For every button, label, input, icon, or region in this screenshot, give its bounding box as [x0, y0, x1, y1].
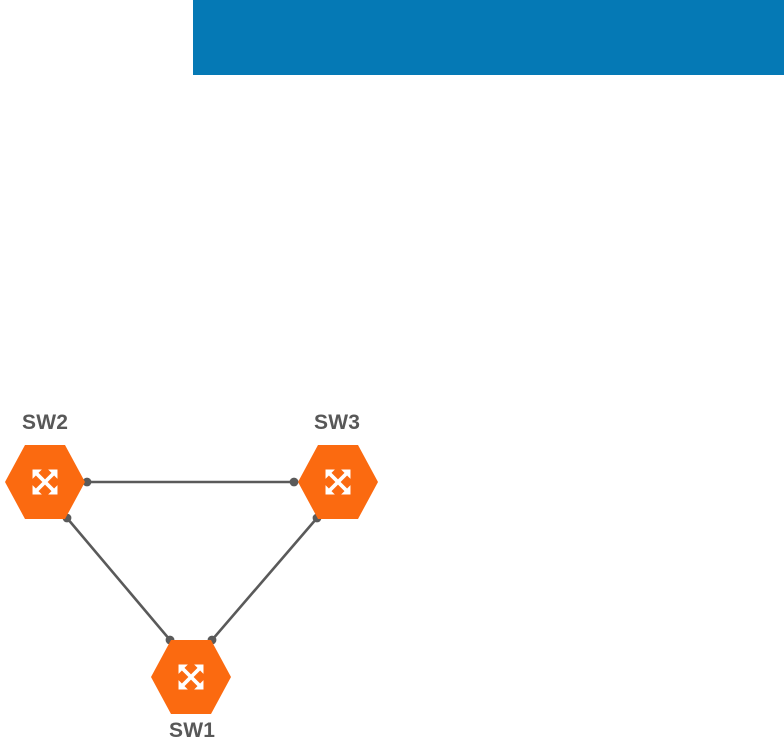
topology-canvas[interactable] — [0, 400, 400, 744]
link-endpoint-group — [63, 478, 322, 645]
topology-svg — [0, 400, 400, 744]
link-sw3-sw1[interactable] — [212, 518, 317, 640]
node-sw3[interactable] — [298, 445, 378, 519]
link-group — [67, 482, 317, 640]
node-sw1[interactable] — [151, 640, 231, 714]
node-label-sw2: SW2 — [22, 412, 68, 433]
node-label-sw1: SW1 — [169, 720, 215, 741]
link-sw2-sw1[interactable] — [67, 518, 170, 640]
header-band — [193, 0, 784, 75]
link-endpoint-sw3-left[interactable] — [290, 478, 299, 487]
page-root: SW2 SW3 SW1 — [0, 0, 784, 744]
node-sw2[interactable] — [5, 445, 85, 519]
node-label-sw3: SW3 — [314, 412, 360, 433]
